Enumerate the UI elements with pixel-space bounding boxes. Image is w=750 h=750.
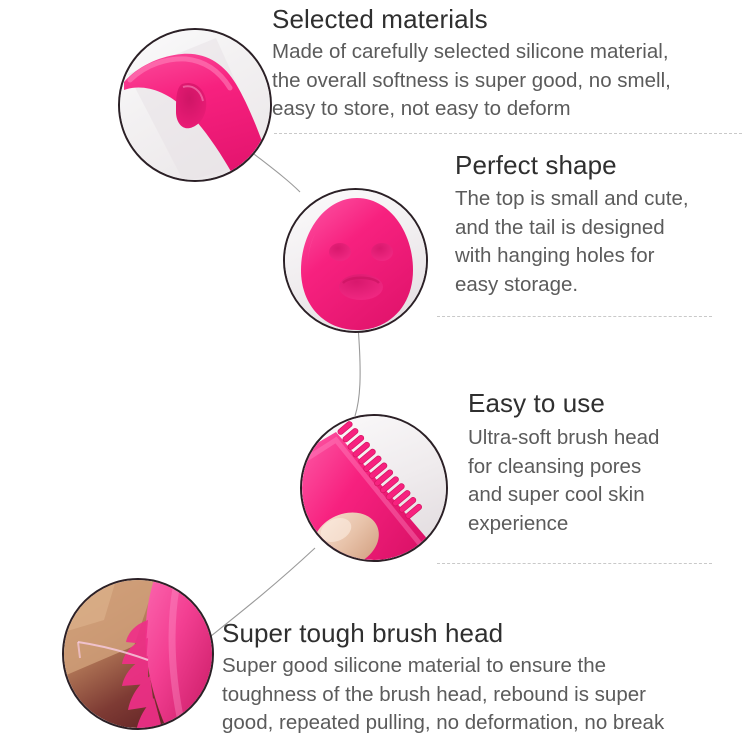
feature-body-easy-to-use: Ultra-soft brush head for cleansing pore… xyxy=(468,424,750,538)
connector-2-to-3 xyxy=(355,326,360,416)
feature-body-line: and super cool skin xyxy=(468,481,750,510)
feature-photo-easy-to-use xyxy=(300,414,448,562)
brush-head-face-closeup xyxy=(285,190,426,331)
feature-body-line: with hanging holes for xyxy=(455,242,750,271)
feature-body-line: experience xyxy=(468,510,750,539)
feature-body-line: Ultra-soft brush head xyxy=(468,424,750,453)
feature-body-line: easy storage. xyxy=(455,271,750,300)
feature-body-line: easy to store, not easy to deform xyxy=(272,95,750,124)
feature-divider-3 xyxy=(437,563,712,564)
feature-divider-1 xyxy=(274,133,742,134)
feature-heading-selected-materials: Selected materials xyxy=(272,4,750,34)
feature-body-super-tough-brush-head: Super good silicone material to ensure t… xyxy=(222,652,750,738)
connector-1-to-2 xyxy=(254,154,300,192)
feature-body-line: for cleansing pores xyxy=(468,453,750,482)
feature-body-selected-materials: Made of carefully selected silicone mate… xyxy=(272,38,750,124)
feature-text-super-tough-brush-head: Super tough brush head Super good silico… xyxy=(222,618,750,738)
feature-body-line: and the tail is designed xyxy=(455,214,750,243)
feature-divider-2 xyxy=(437,316,712,317)
brush-handle-closeup xyxy=(120,30,270,180)
feature-body-line: Super good silicone material to ensure t… xyxy=(222,652,750,681)
feature-text-easy-to-use: Easy to use Ultra-soft brush head for cl… xyxy=(468,388,750,538)
brush-pulling-test-closeup xyxy=(64,580,212,728)
feature-heading-super-tough-brush-head: Super tough brush head xyxy=(222,618,750,648)
feature-text-selected-materials: Selected materials Made of carefully sel… xyxy=(272,4,750,124)
feature-text-perfect-shape: Perfect shape The top is small and cute,… xyxy=(455,150,750,299)
feature-heading-easy-to-use: Easy to use xyxy=(468,388,750,418)
feature-body-line: toughness of the brush head, rebound is … xyxy=(222,681,750,710)
infographic-canvas: Selected materials Made of carefully sel… xyxy=(0,0,750,750)
feature-photo-super-tough-brush-head xyxy=(62,578,214,730)
feature-heading-perfect-shape: Perfect shape xyxy=(455,150,750,180)
feature-body-line: The top is small and cute, xyxy=(455,185,750,214)
feature-photo-selected-materials xyxy=(118,28,272,182)
feature-photo-perfect-shape xyxy=(283,188,428,333)
feature-body-perfect-shape: The top is small and cute, and the tail … xyxy=(455,185,750,299)
feature-body-line: the overall softness is super good, no s… xyxy=(272,67,750,96)
brush-bristles-closeup xyxy=(302,416,446,560)
feature-body-line: Made of carefully selected silicone mate… xyxy=(272,38,750,67)
feature-body-line: good, repeated pulling, no deformation, … xyxy=(222,709,750,738)
